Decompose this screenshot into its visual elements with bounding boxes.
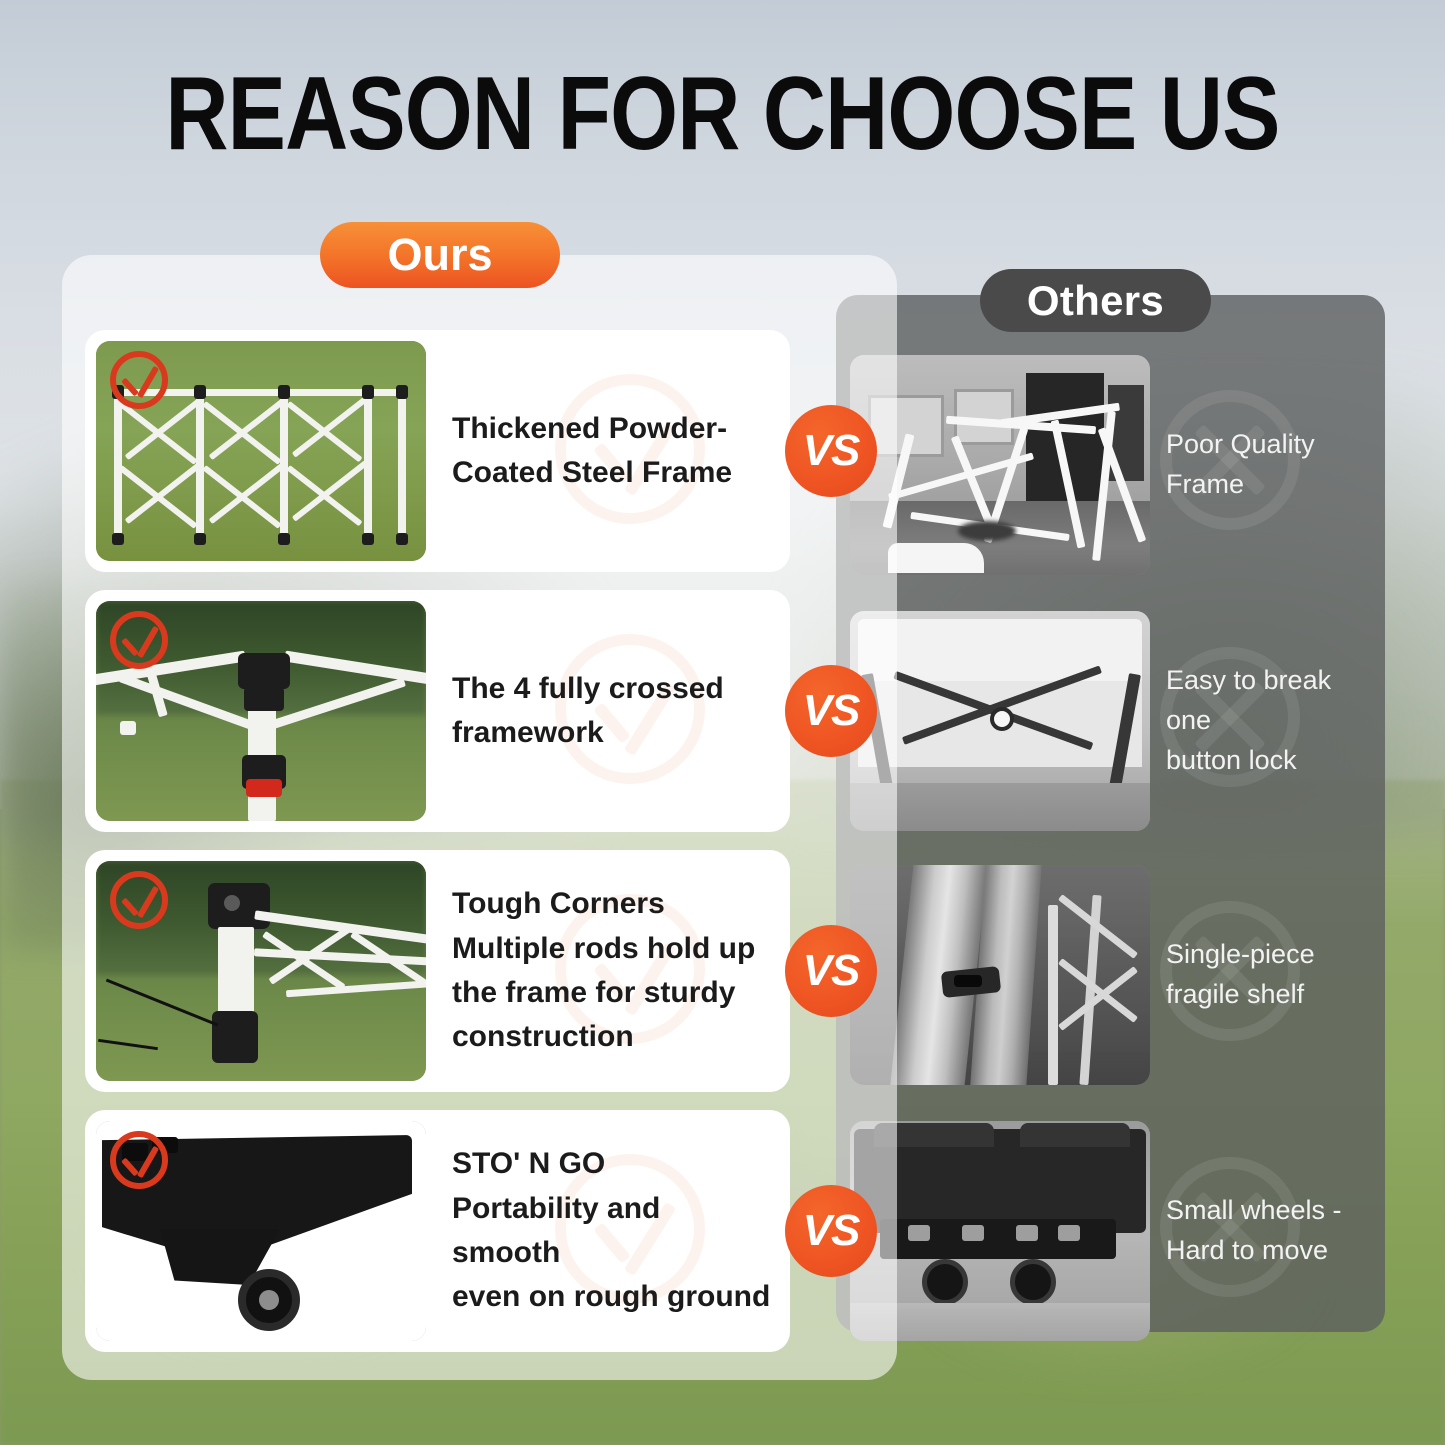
others-row-label-line: Easy to break one — [1166, 661, 1375, 741]
ours-row-card: STO' N GO Portability and smooth even on… — [85, 1110, 790, 1352]
others-row-label: Poor Quality Frame — [1166, 425, 1375, 505]
others-row-label-line: fragile shelf — [1166, 975, 1375, 1015]
check-circle-icon — [110, 1131, 168, 1189]
check-circle-icon — [110, 351, 168, 409]
ours-row-label-line: Portability and smooth — [452, 1187, 776, 1276]
ours-row-label: STO' N GO Portability and smooth even on… — [452, 1142, 776, 1320]
ours-row-card: Tough Corners Multiple rods hold up the … — [85, 850, 790, 1092]
ours-column-label: Ours — [320, 222, 560, 288]
others-row-label-line: Single-piece — [1166, 935, 1375, 975]
ours-row-label: Tough Corners Multiple rods hold up the … — [452, 882, 776, 1060]
ours-row-label-line: framework — [452, 711, 776, 755]
ours-row-label-line: even on rough ground — [452, 1275, 776, 1319]
check-circle-icon — [110, 871, 168, 929]
ours-row-label-line: Tough Corners — [452, 882, 776, 926]
vs-badge: VS — [785, 1185, 877, 1277]
others-row-label-line: Hard to move — [1166, 1231, 1375, 1271]
others-row-label-line: button lock — [1166, 741, 1375, 781]
ours-photo-steel-frame — [96, 341, 426, 561]
others-column-label: Others — [980, 269, 1211, 332]
ours-photo-sto-n-go — [96, 1121, 426, 1341]
ours-row-label: The 4 fully crossed framework — [452, 667, 776, 756]
others-row-label: Small wheels - Hard to move — [1166, 1191, 1375, 1271]
others-row-label: Easy to break one button lock — [1166, 661, 1375, 781]
ours-row-label-line: construction — [452, 1015, 776, 1059]
ours-row-card: The 4 fully crossed framework — [85, 590, 790, 832]
ours-row-label-line: The 4 fully crossed — [452, 667, 776, 711]
ours-row-label-line: Coated Steel Frame — [452, 451, 776, 495]
vs-badge: VS — [785, 925, 877, 1017]
ours-photo-tough-corners — [96, 861, 426, 1081]
vs-badge: VS — [785, 405, 877, 497]
others-column-panel: Poor Quality Frame Easy to break one but… — [836, 295, 1385, 1332]
ours-row-label: Thickened Powder- Coated Steel Frame — [452, 407, 776, 496]
others-row-label-line: Small wheels - — [1166, 1191, 1375, 1231]
ours-photo-crossed-framework — [96, 601, 426, 821]
others-row: Small wheels - Hard to move — [836, 1121, 1385, 1341]
vs-badge: VS — [785, 665, 877, 757]
ours-row-label-line: the frame for sturdy — [452, 971, 776, 1015]
others-row: Poor Quality Frame — [836, 355, 1385, 575]
others-row: Easy to break one button lock — [836, 611, 1385, 831]
caster-wheel — [922, 1259, 968, 1305]
ours-row-label-line: STO' N GO — [452, 1142, 776, 1186]
ours-row-label-line: Thickened Powder- — [452, 407, 776, 451]
others-row-label: Single-piece fragile shelf — [1166, 935, 1375, 1015]
check-circle-icon — [110, 611, 168, 669]
others-row: Single-piece fragile shelf — [836, 865, 1385, 1085]
ours-row-card: Thickened Powder- Coated Steel Frame — [85, 330, 790, 572]
ours-row-label-line: Multiple rods hold up — [452, 927, 776, 971]
page-title: REASON FOR CHOOSE US — [116, 62, 1330, 166]
caster-wheel — [1010, 1259, 1056, 1305]
